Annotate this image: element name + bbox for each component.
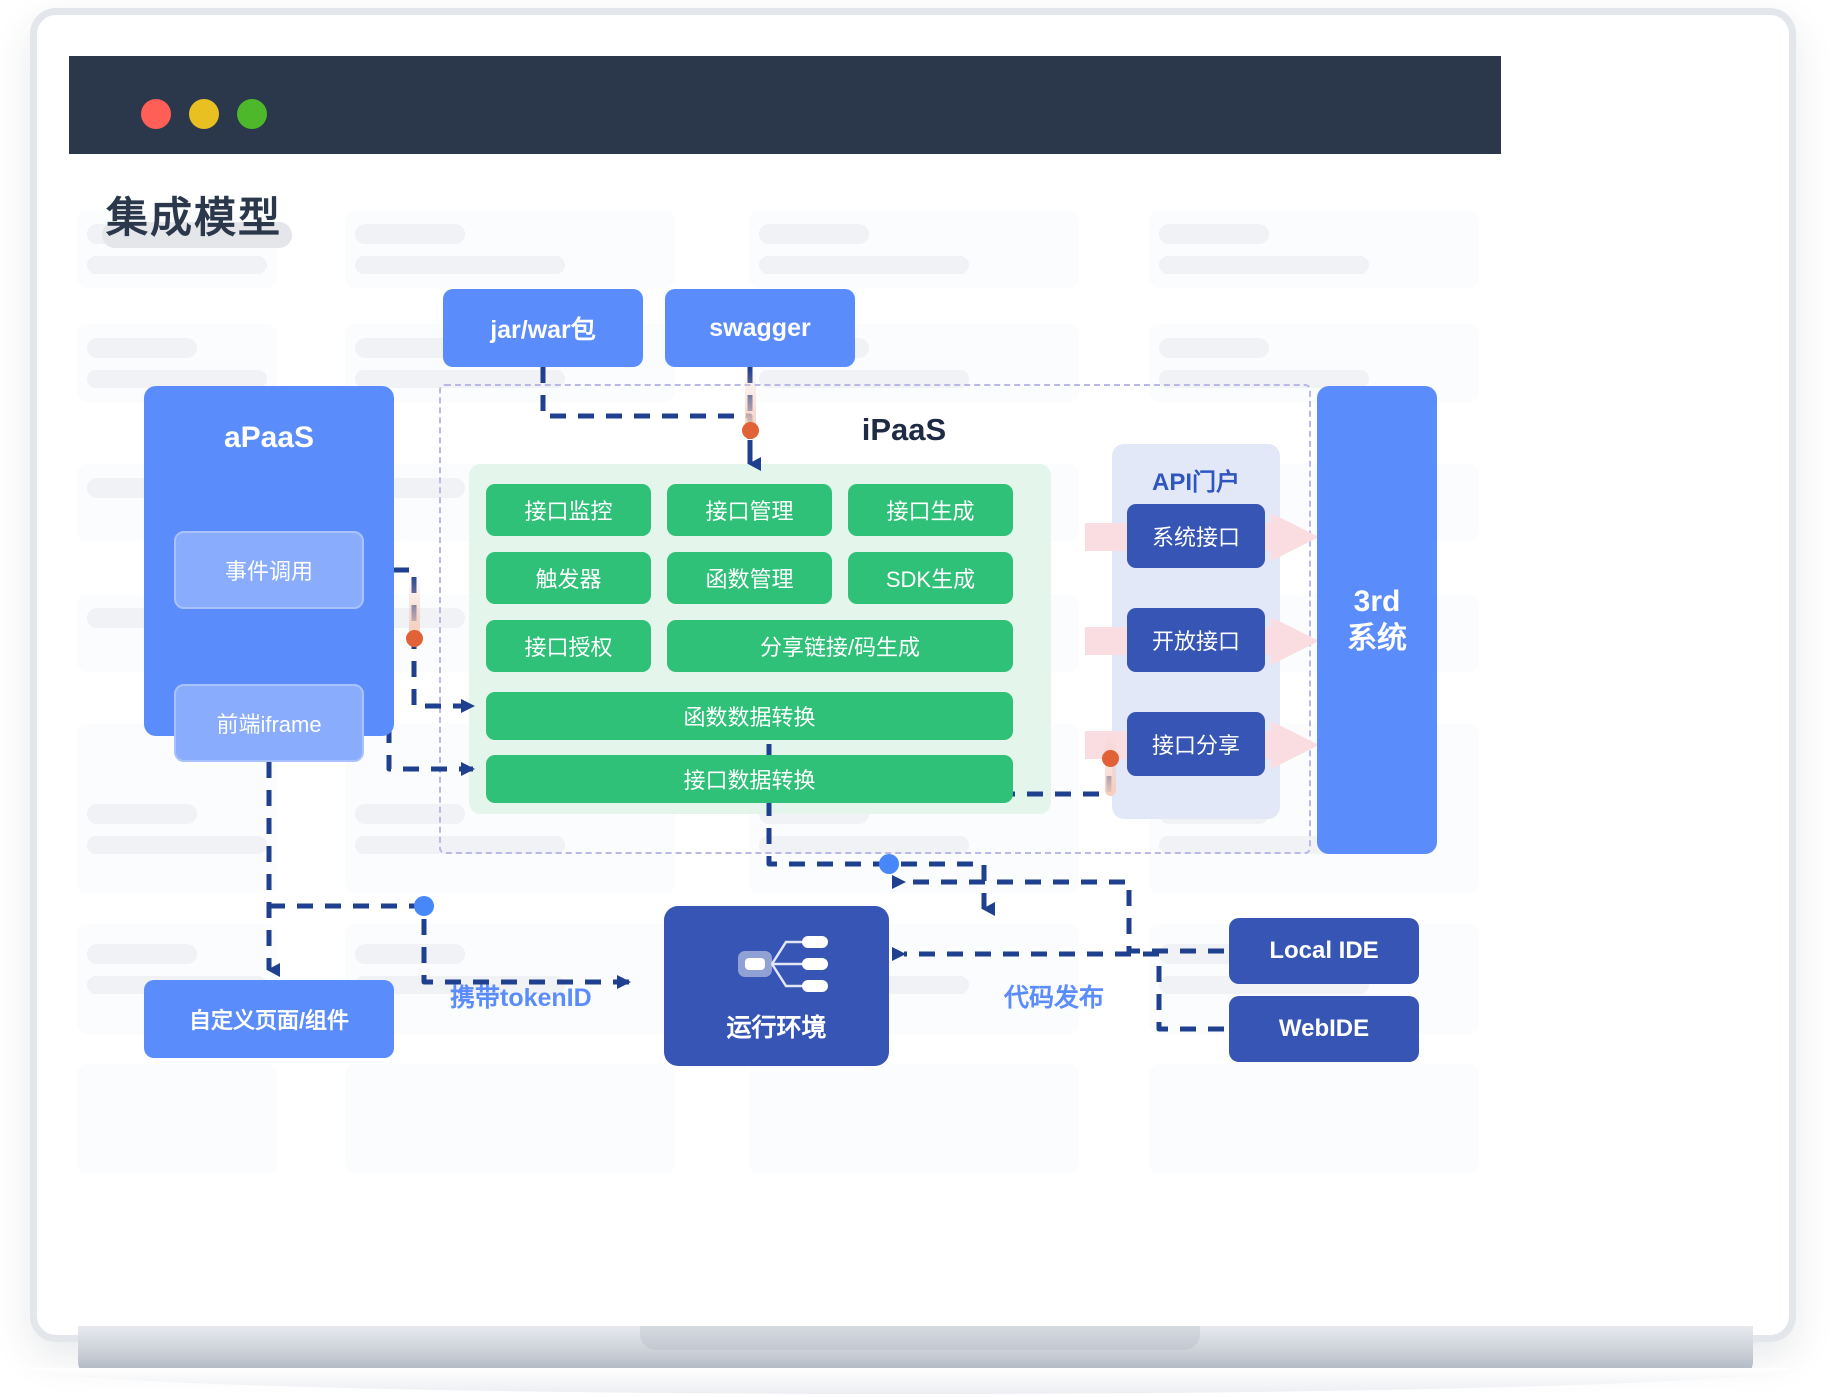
edge-label-publish: 代码发布: [1004, 978, 1104, 1014]
node-event-invoke[interactable]: 事件调用: [174, 531, 364, 609]
chip-interface-manage[interactable]: 接口管理: [667, 484, 832, 536]
node-jar-war[interactable]: jar/war包: [443, 289, 643, 367]
diagram-canvas: iPaaS: [69, 164, 1501, 1264]
third-party-line1: 3rd: [1354, 583, 1401, 621]
wire-marker-dot: [406, 630, 423, 647]
laptop-notch: [640, 1326, 1200, 1350]
laptop-foot: [30, 1368, 1790, 1394]
window-titlebar: [69, 56, 1501, 154]
browser-window: 集成模型 iPaaS: [40, 44, 1690, 1274]
chip-function-data-transform[interactable]: 函数数据转换: [486, 692, 1013, 740]
chip-sdk-generate[interactable]: SDK生成: [848, 552, 1013, 604]
chip-system-interface[interactable]: 系统接口: [1127, 504, 1265, 568]
chip-share-link-qr[interactable]: 分享链接/码生成: [667, 620, 1013, 672]
chip-interface-share[interactable]: 接口分享: [1127, 712, 1265, 776]
close-icon[interactable]: [141, 99, 171, 129]
api-portal-title: API门户: [1112, 462, 1280, 497]
node-third-party-system[interactable]: 3rd 系统: [1317, 386, 1437, 854]
third-party-line2: 系统: [1347, 620, 1407, 658]
chip-interface-auth[interactable]: 接口授权: [486, 620, 651, 672]
edge-label-token: 携带tokenID: [450, 978, 592, 1014]
wire-glow: [409, 574, 420, 636]
node-local-ide[interactable]: Local IDE: [1229, 918, 1419, 984]
chip-open-interface[interactable]: 开放接口: [1127, 608, 1265, 672]
wire-marker-dot: [742, 422, 759, 439]
chip-interface-monitor[interactable]: 接口监控: [486, 484, 651, 536]
chip-trigger[interactable]: 触发器: [486, 552, 651, 604]
chip-function-manage[interactable]: 函数管理: [667, 552, 832, 604]
chip-interface-data-transform[interactable]: 接口数据转换: [486, 755, 1013, 803]
node-frontend-iframe[interactable]: 前端iframe: [174, 684, 364, 762]
node-swagger[interactable]: swagger: [665, 289, 855, 367]
node-web-ide[interactable]: WebIDE: [1229, 996, 1419, 1062]
minimize-icon[interactable]: [189, 99, 219, 129]
runtime-label: 运行环境: [726, 1008, 826, 1044]
chip-interface-generate[interactable]: 接口生成: [848, 484, 1013, 536]
wire-marker-dot: [1102, 750, 1119, 767]
branch-nodes-icon: [724, 932, 834, 996]
screenshot-stage: 集成模型 iPaaS: [0, 0, 1830, 1397]
node-runtime-environment[interactable]: 运行环境: [664, 906, 889, 1066]
maximize-icon[interactable]: [237, 99, 267, 129]
node-custom-page[interactable]: 自定义页面/组件: [144, 980, 394, 1058]
page-title: 集成模型: [106, 184, 282, 245]
